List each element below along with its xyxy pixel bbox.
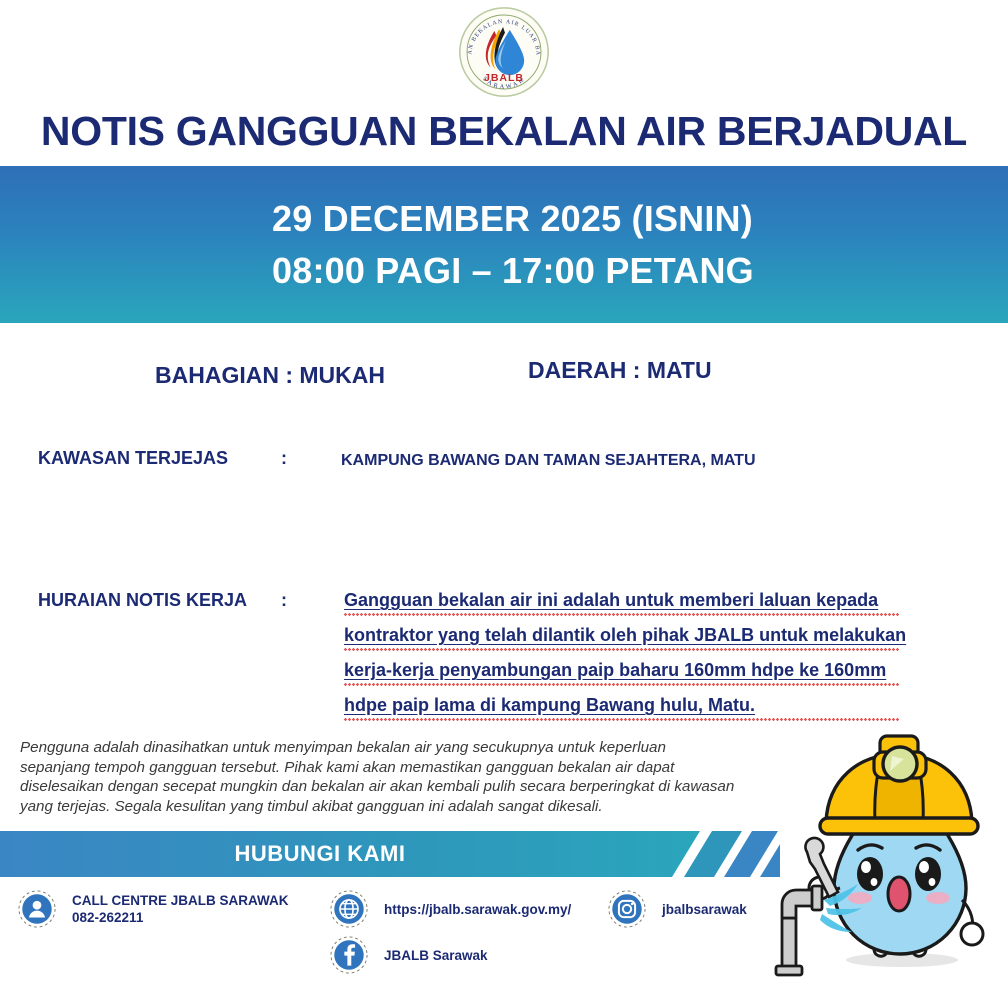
date-time-banner: 29 DECEMBER 2025 (ISNIN) 08:00 PAGI – 17…	[0, 166, 1008, 323]
bahagian-text: BAHAGIAN : MUKAH	[155, 362, 385, 389]
huraian-line: kontraktor yang telah dilantik oleh piha…	[344, 618, 904, 653]
daerah-text: DAERAH : MATU	[528, 357, 712, 384]
notice-page: JABATAN BEKALAN AIR LUAR BANDAR SARAWAK …	[0, 0, 1008, 986]
contact-call-centre[interactable]: CALL CENTRE JBALB SARAWAK 082-262211	[18, 890, 289, 928]
huraian-colon: :	[281, 590, 287, 611]
website-text: https://jbalb.sarawak.gov.my/	[384, 901, 571, 918]
jbalb-logo-icon: JABATAN BEKALAN AIR LUAR BANDAR SARAWAK …	[456, 4, 552, 100]
contact-website[interactable]: https://jbalb.sarawak.gov.my/	[330, 890, 571, 928]
banner-date-line: 29 DECEMBER 2025 (ISNIN)	[272, 193, 1008, 244]
call-centre-text: CALL CENTRE JBALB SARAWAK 082-262211	[72, 892, 289, 926]
kawasan-value: KAMPUNG BAWANG DAN TAMAN SEJAHTERA, MATU	[341, 452, 756, 470]
page-title: NOTIS GANGGUAN BEKALAN AIR BERJADUAL	[0, 108, 1008, 155]
facebook-icon	[330, 936, 368, 974]
contact-header-banner: HUBUNGI KAMI	[0, 831, 780, 877]
huraian-line: kerja-kerja penyambungan paip baharu 160…	[344, 653, 904, 688]
facebook-text: JBALB Sarawak	[384, 947, 488, 964]
huraian-body: Gangguan bekalan air ini adalah untuk me…	[344, 583, 904, 723]
contact-facebook[interactable]: JBALB Sarawak	[330, 936, 488, 974]
instagram-icon	[608, 890, 646, 928]
person-icon	[18, 890, 56, 928]
call-centre-line1: CALL CENTRE JBALB SARAWAK	[72, 893, 289, 908]
huraian-line: Gangguan bekalan air ini adalah untuk me…	[344, 583, 904, 618]
banner-time-line: 08:00 PAGI – 17:00 PETANG	[272, 245, 1008, 296]
globe-icon	[330, 890, 368, 928]
disclaimer-text: Pengguna adalah dinasihatkan untuk menyi…	[20, 738, 740, 816]
water-drop-mascot-icon	[762, 722, 1008, 984]
call-centre-line2: 082-262211	[72, 909, 289, 926]
instagram-text: jbalbsarawak	[662, 901, 747, 918]
huraian-line: hdpe paip lama di kampung Bawang hulu, M…	[344, 688, 904, 723]
logo-container: JABATAN BEKALAN AIR LUAR BANDAR SARAWAK …	[0, 4, 1008, 100]
huraian-label: HURAIAN NOTIS KERJA	[38, 590, 247, 611]
kawasan-colon: :	[281, 448, 287, 469]
contact-banner-shape	[0, 831, 780, 877]
contact-instagram[interactable]: jbalbsarawak	[608, 890, 747, 928]
svg-text:JBALB: JBALB	[484, 72, 524, 84]
kawasan-label: KAWASAN TERJEJAS	[38, 448, 228, 469]
